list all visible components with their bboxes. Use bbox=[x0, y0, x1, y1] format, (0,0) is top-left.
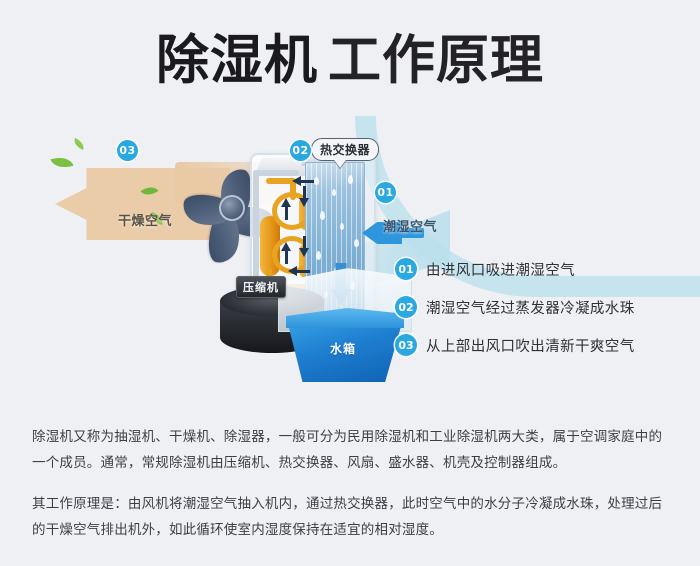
water-droplet bbox=[340, 223, 344, 230]
diagram-badge-02: 02 bbox=[290, 140, 311, 161]
title-light-text: 工作原理 bbox=[328, 30, 544, 91]
description-paragraph-2: 其工作原理是：由风机将潮湿空气抽入机内，通过热交换器，此时空气中的水分子冷凝成水… bbox=[32, 491, 672, 544]
legend-item-03: 03 从上部出风口吹出清新干爽空气 bbox=[395, 326, 685, 364]
water-tank-label: 水箱 bbox=[330, 340, 356, 357]
legend-badge-02: 02 bbox=[395, 296, 417, 318]
legend-text-01: 由进风口吸进潮湿空气 bbox=[426, 259, 575, 280]
diagram-badge-01: 01 bbox=[375, 182, 396, 203]
legend-text-02: 潮湿空气经过蒸发器冷凝成水珠 bbox=[426, 297, 635, 318]
diagram-badge-03: 03 bbox=[117, 140, 138, 161]
flow-arrow-down bbox=[299, 198, 309, 207]
water-droplet bbox=[348, 175, 353, 184]
legend-item-02: 02 潮湿空气经过蒸发器冷凝成水珠 bbox=[395, 288, 685, 326]
flow-arrow-stem bbox=[303, 236, 306, 248]
flow-arrow-up bbox=[281, 198, 291, 207]
infographic-page: 除湿机工作原理 bbox=[0, 0, 700, 566]
water-droplet bbox=[314, 177, 319, 185]
flow-arrow-down bbox=[299, 248, 309, 257]
flow-arrow-stem bbox=[285, 206, 288, 220]
legend-text-03: 从上部出风口吹出清新干爽空气 bbox=[426, 335, 635, 356]
compressor-label: 压缩机 bbox=[236, 276, 286, 298]
title-strong-text: 除湿机 bbox=[156, 30, 318, 91]
leaf-icon bbox=[50, 153, 73, 172]
water-droplet bbox=[316, 251, 321, 260]
flow-arrow-left bbox=[288, 266, 297, 276]
moist-air-label: 潮湿空气 bbox=[383, 216, 437, 235]
fan-hub bbox=[219, 195, 245, 221]
flow-arrow-stem bbox=[303, 186, 306, 198]
description-paragraph-1: 除湿机又称为抽湿机、干燥机、除湿器，一般可分为民用除湿机和工业除湿机两大类，属于… bbox=[32, 424, 672, 477]
description-copy: 除湿机又称为抽湿机、干燥机、除湿器，一般可分为民用除湿机和工业除湿机两大类，属于… bbox=[32, 424, 672, 543]
legend-item-01: 01 由进风口吸进潮湿空气 bbox=[395, 250, 685, 288]
legend-badge-03: 03 bbox=[395, 334, 417, 356]
heat-exchanger-callout: 热交换器 bbox=[311, 138, 379, 161]
water-droplet bbox=[320, 211, 325, 220]
water-droplet bbox=[332, 189, 336, 196]
flow-arrow-left bbox=[292, 176, 301, 186]
legend-badge-01: 01 bbox=[395, 258, 417, 280]
water-droplet bbox=[354, 239, 359, 247]
flow-arrow-stem bbox=[296, 270, 310, 273]
flow-arrow-stem bbox=[300, 180, 314, 183]
flow-arrow-up bbox=[281, 242, 291, 251]
page-title: 除湿机工作原理 bbox=[0, 34, 700, 87]
leaf-icon bbox=[72, 138, 86, 150]
flow-arrow-stem bbox=[285, 250, 288, 264]
dry-air-label: 干燥空气 bbox=[118, 210, 172, 229]
process-legend: 01 由进风口吸进潮湿空气 02 潮湿空气经过蒸发器冷凝成水珠 03 从上部出风… bbox=[395, 250, 685, 364]
